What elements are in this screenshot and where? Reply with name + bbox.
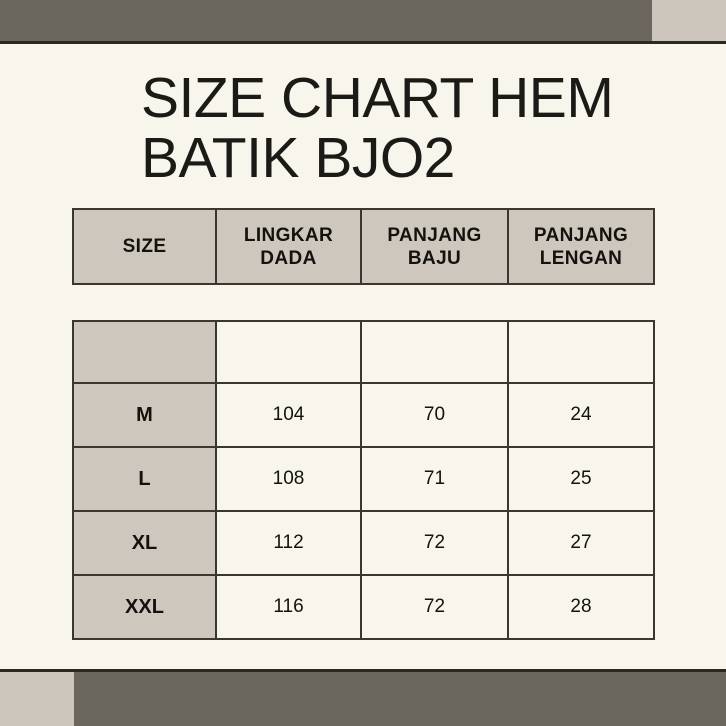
page-title-line-1: SIZE CHART HEM	[141, 68, 661, 128]
cell-size: XL	[73, 511, 216, 575]
size-chart-header-table: SIZE LINGKAR DADA PANJANG BAJU PANJANG L…	[72, 208, 655, 285]
column-header-lingkar-dada-line-1: LINGKAR	[244, 225, 333, 246]
cell-panjang-baju: 72	[361, 511, 508, 575]
table-row: XL 112 72 27	[73, 511, 654, 575]
cell-size: M	[73, 383, 216, 447]
bottom-bar-dark-segment	[74, 672, 726, 726]
table-header-row: SIZE LINGKAR DADA PANJANG BAJU PANJANG L…	[73, 209, 654, 284]
cell-size	[73, 321, 216, 383]
cell-panjang-lengan: 25	[508, 447, 654, 511]
top-bar-accent-segment	[652, 0, 726, 41]
cell-panjang-lengan: 28	[508, 575, 654, 639]
column-header-size-line-1: SIZE	[123, 236, 167, 257]
page-title-line-2: BATIK BJO2	[141, 128, 661, 188]
table-row: L 108 71 25	[73, 447, 654, 511]
cell-size: L	[73, 447, 216, 511]
cell-panjang-lengan	[508, 321, 654, 383]
column-header-size: SIZE	[73, 209, 216, 284]
column-header-panjang-baju-line-2: BAJU	[408, 248, 461, 269]
top-bar-dark-segment	[0, 0, 652, 41]
column-header-panjang-lengan-line-1: PANJANG	[534, 225, 628, 246]
bottom-decoration-bar	[0, 672, 726, 726]
column-header-panjang-baju-line-1: PANJANG	[387, 225, 481, 246]
table-row: XXL 116 72 28	[73, 575, 654, 639]
cell-panjang-baju: 70	[361, 383, 508, 447]
cell-lingkar-dada	[216, 321, 361, 383]
cell-panjang-baju	[361, 321, 508, 383]
cell-panjang-baju: 71	[361, 447, 508, 511]
cell-lingkar-dada: 104	[216, 383, 361, 447]
cell-panjang-baju: 72	[361, 575, 508, 639]
page-title: SIZE CHART HEM BATIK BJO2	[141, 68, 661, 188]
cell-lingkar-dada: 116	[216, 575, 361, 639]
column-header-panjang-baju: PANJANG BAJU	[361, 209, 508, 284]
table-row: M 104 70 24	[73, 383, 654, 447]
column-header-lingkar-dada-line-2: DADA	[260, 248, 317, 269]
top-decoration-bar	[0, 0, 726, 41]
column-header-lingkar-dada: LINGKAR DADA	[216, 209, 361, 284]
cell-lingkar-dada: 108	[216, 447, 361, 511]
cell-lingkar-dada: 112	[216, 511, 361, 575]
cell-size: XXL	[73, 575, 216, 639]
table-row	[73, 321, 654, 383]
bottom-bar-accent-segment	[0, 672, 74, 726]
cell-panjang-lengan: 24	[508, 383, 654, 447]
column-header-panjang-lengan: PANJANG LENGAN	[508, 209, 654, 284]
size-chart-body-table: M 104 70 24 L 108 71 25 XL 112 72 27 XXL…	[72, 320, 655, 640]
column-header-panjang-lengan-line-2: LENGAN	[540, 248, 623, 269]
cell-panjang-lengan: 27	[508, 511, 654, 575]
